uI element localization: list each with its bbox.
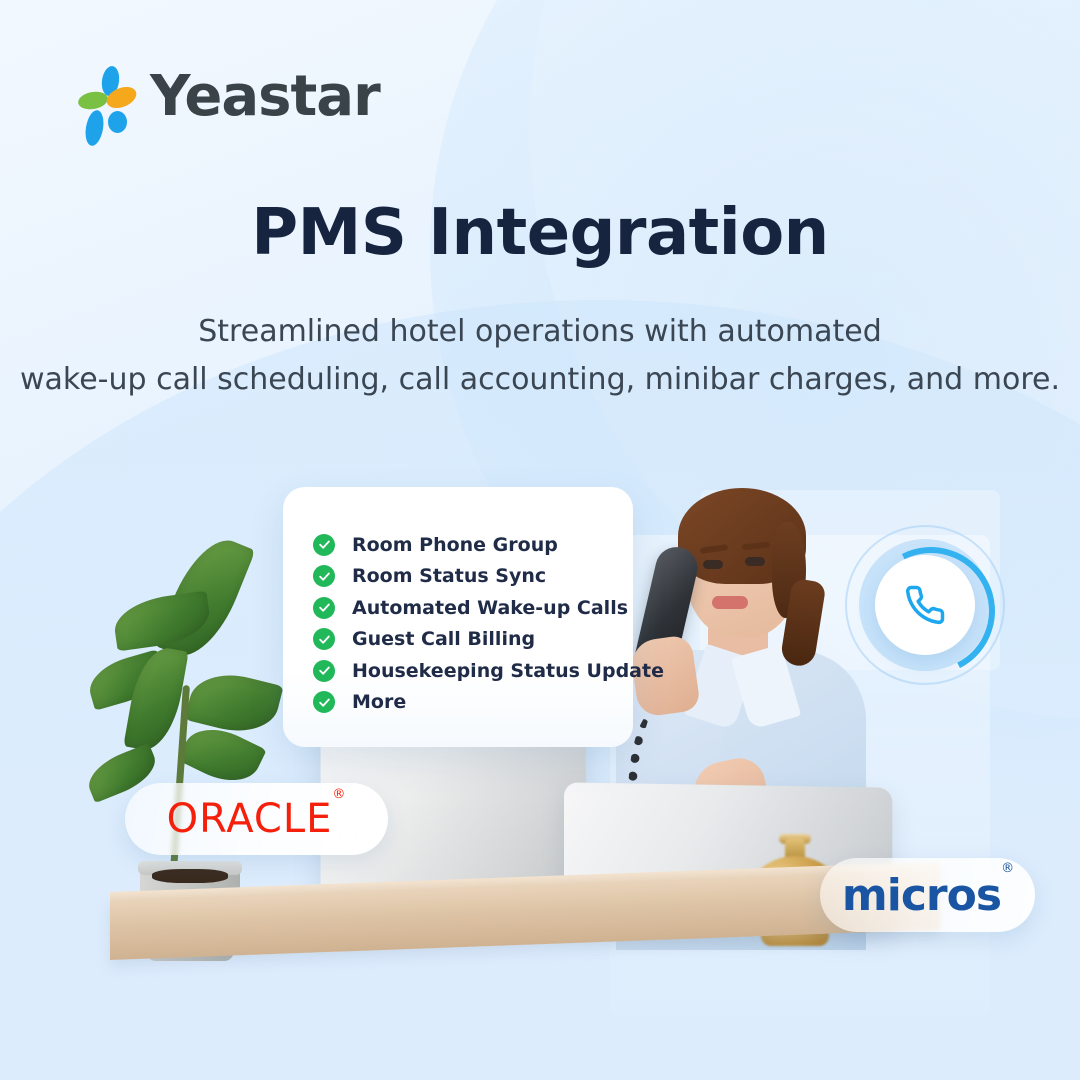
list-item[interactable]: Housekeeping Status Update <box>313 655 643 687</box>
list-item[interactable]: More <box>313 687 643 719</box>
plant-soil <box>152 869 228 883</box>
promo-graphic: Yeastar PMS Integration Streamlined hote… <box>0 0 1080 1080</box>
feature-label: More <box>352 691 406 713</box>
check-circle-icon <box>313 691 335 713</box>
feature-label: Guest Call Billing <box>352 628 535 650</box>
call-badge[interactable] <box>845 525 1005 685</box>
check-circle-icon <box>313 534 335 556</box>
subtitle-line-2: wake-up call scheduling, call accounting… <box>0 356 1080 404</box>
list-item[interactable]: Room Phone Group <box>313 529 643 561</box>
list-item[interactable]: Automated Wake-up Calls <box>313 592 643 624</box>
oracle-name: ORACLE <box>167 796 333 842</box>
micros-partner-badge[interactable]: micros® <box>820 858 1035 932</box>
phone-handset-icon <box>875 555 975 655</box>
oracle-wordmark: ORACLE® <box>167 796 347 842</box>
brand-wordmark: Yeastar <box>150 69 380 125</box>
yeastar-pinwheel-icon <box>78 66 136 128</box>
feature-label: Automated Wake-up Calls <box>352 597 628 619</box>
oracle-partner-badge[interactable]: ORACLE® <box>125 783 388 855</box>
list-item[interactable]: Room Status Sync <box>313 561 643 593</box>
brand-logo: Yeastar <box>78 66 380 128</box>
person-eye-left <box>703 560 723 569</box>
subtitle-line-1: Streamlined hotel operations with automa… <box>0 308 1080 356</box>
list-item[interactable]: Guest Call Billing <box>313 624 643 656</box>
plant-leaf <box>185 665 284 741</box>
feature-label: Room Phone Group <box>352 534 558 556</box>
logo-petal-left <box>77 90 109 112</box>
person-lips <box>712 596 748 609</box>
page-subtitle: Streamlined hotel operations with automa… <box>0 308 1080 404</box>
feature-label: Housekeeping Status Update <box>352 660 664 682</box>
check-circle-icon <box>313 565 335 587</box>
feature-list: Room Phone Group Room Status Sync Automa… <box>313 529 643 718</box>
check-circle-icon <box>313 660 335 682</box>
person-eye-right <box>745 557 765 566</box>
check-circle-icon <box>313 597 335 619</box>
feature-label: Room Status Sync <box>352 565 546 587</box>
micros-name: micros <box>842 870 1001 921</box>
logo-dot <box>108 111 127 133</box>
page-title: PMS Integration <box>0 196 1080 270</box>
micros-trademark: ® <box>1001 861 1013 876</box>
micros-wordmark: micros® <box>842 870 1013 921</box>
oracle-trademark: ® <box>332 787 346 802</box>
check-circle-icon <box>313 628 335 650</box>
